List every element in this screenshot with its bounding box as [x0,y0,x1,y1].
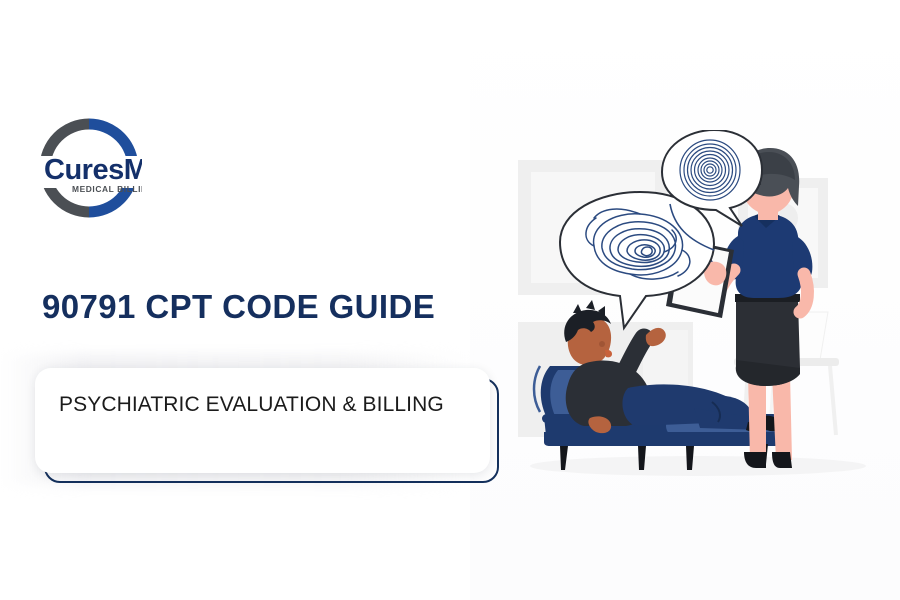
svg-text:MEDICAL BILLING: MEDICAL BILLING [72,184,142,194]
poster-canvas: CuresMB MEDICAL BILLING 90791 CPT CODE G… [0,0,900,600]
therapy-session-illustration [498,130,898,500]
subtitle-text: PSYCHIATRIC EVALUATION & BILLING [59,390,466,420]
curesmb-logo[interactable]: CuresMB MEDICAL BILLING [36,116,142,220]
page-title: 90791 CPT CODE GUIDE [42,288,562,326]
subtitle-card: PSYCHIATRIC EVALUATION & BILLING [35,368,490,473]
subtitle-card-face: PSYCHIATRIC EVALUATION & BILLING [35,368,490,473]
svg-text:CuresMB: CuresMB [44,154,142,186]
